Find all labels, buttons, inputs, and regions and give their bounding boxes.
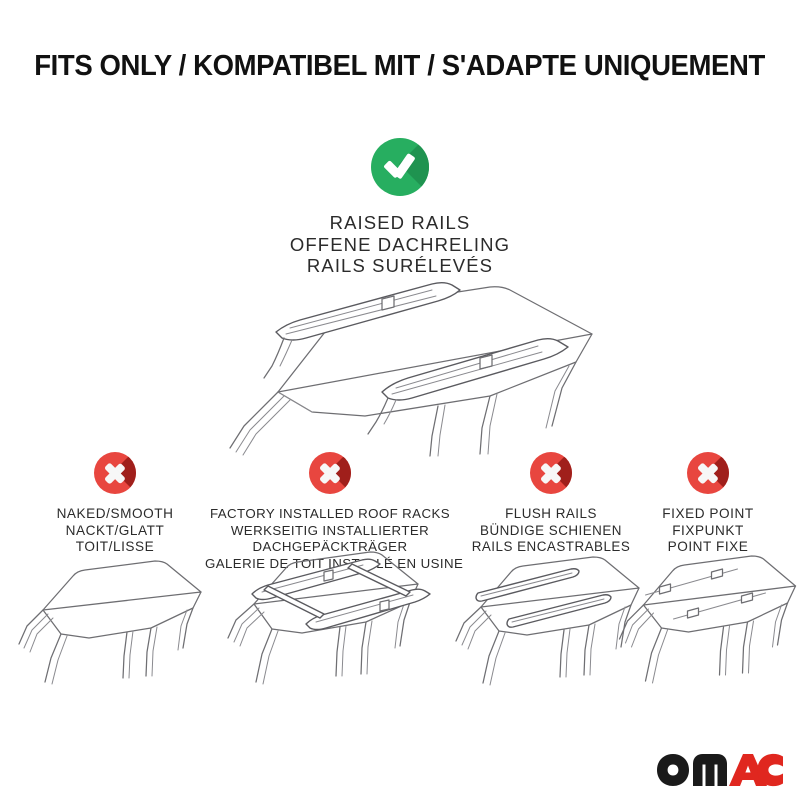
rejected-item-flush-rails: FLUSH RAILS BÜNDIGE SCHIENEN RAILS ENCAS… xyxy=(448,452,654,556)
rejected-label-en: FLUSH RAILS xyxy=(448,506,654,523)
approved-label-en: RAISED RAILS xyxy=(0,212,800,234)
rejected-label-de-1: WERKSEITIG INSTALLIERTER xyxy=(205,523,455,540)
naked-smooth-illustration xyxy=(15,552,215,692)
rejected-section: NAKED/SMOOTH NACKT/GLATT TOIT/LISSE xyxy=(0,452,800,792)
factory-roof-rack-illustration xyxy=(220,542,440,692)
rejected-label-de: FIXPUNKT xyxy=(638,523,778,540)
omac-logo: OMAC xyxy=(655,752,785,788)
x-glyph xyxy=(319,462,341,484)
rejected-item-naked-smooth: NAKED/SMOOTH NACKT/GLATT TOIT/LISSE xyxy=(15,452,215,556)
rejected-label-en: FACTORY INSTALLED ROOF RACKS xyxy=(205,506,455,523)
x-circle-icon xyxy=(530,452,572,494)
rejected-item-factory-roof-racks: FACTORY INSTALLED ROOF RACKS WERKSEITIG … xyxy=(205,452,455,572)
approved-section: RAISED RAILS OFFENE DACHRELING RAILS SUR… xyxy=(0,138,800,277)
approved-label-de: OFFENE DACHRELING xyxy=(0,234,800,256)
check-circle-icon xyxy=(371,138,429,196)
check-glyph xyxy=(384,152,416,180)
rejected-label-en: FIXED POINT xyxy=(638,506,778,523)
page-title: FITS ONLY / KOMPATIBEL MIT / S'ADAPTE UN… xyxy=(0,50,800,83)
x-circle-icon xyxy=(687,452,729,494)
rejected-labels-naked-smooth: NAKED/SMOOTH NACKT/GLATT TOIT/LISSE xyxy=(15,506,215,556)
x-circle-icon xyxy=(309,452,351,494)
fixed-point-illustration xyxy=(616,547,800,692)
page-title-text: FITS ONLY / KOMPATIBEL MIT / S'ADAPTE UN… xyxy=(35,50,766,83)
approved-label-fr: RAILS SURÉLEVÉS xyxy=(0,255,800,277)
raised-rails-illustration xyxy=(160,276,640,456)
x-glyph xyxy=(540,462,562,484)
rejected-label-de: BÜNDIGE SCHIENEN xyxy=(448,523,654,540)
rejected-item-fixed-point: FIXED POINT FIXPUNKT POINT FIXE xyxy=(638,452,778,556)
x-circle-icon xyxy=(94,452,136,494)
rejected-label-en: NAKED/SMOOTH xyxy=(15,506,215,523)
rejected-label-de: NACKT/GLATT xyxy=(15,523,215,540)
x-glyph xyxy=(104,462,126,484)
approved-labels: RAISED RAILS OFFENE DACHRELING RAILS SUR… xyxy=(0,212,800,277)
x-glyph xyxy=(697,462,719,484)
